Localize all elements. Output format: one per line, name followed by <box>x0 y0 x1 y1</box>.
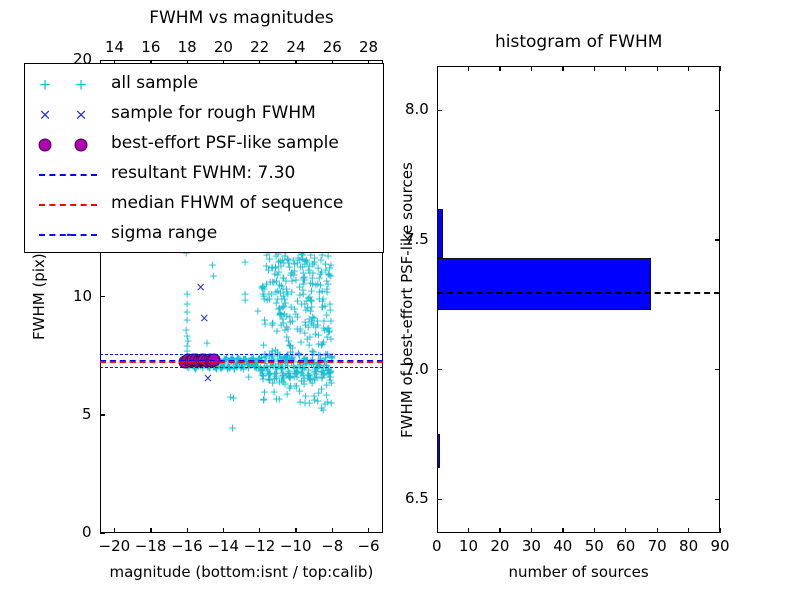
right-xtick-top <box>688 66 689 71</box>
right-xtick <box>531 528 532 533</box>
right-xtick <box>437 528 438 533</box>
right-xtick-label: 80 <box>679 537 698 555</box>
left-xtick-bottom-label: −20 <box>99 537 131 555</box>
legend-item-label: all sample <box>111 73 198 93</box>
plus-marker: + <box>75 78 88 93</box>
left-xtick-top-label: 14 <box>105 38 124 56</box>
legend-item: ××sample for rough FWHM <box>25 100 383 130</box>
right-xtick <box>499 528 500 533</box>
cross-marker: × <box>75 108 88 123</box>
right-ytick <box>437 499 442 500</box>
right-ytick-right <box>715 369 720 370</box>
legend-item: best-effort PSF-like sample <box>25 130 383 160</box>
reference-line-sigma-range-upper <box>100 354 383 355</box>
legend-item-label: resultant FWHM: 7.30 <box>111 163 295 183</box>
right-xaxis-label: number of sources <box>509 563 649 581</box>
legend-item: resultant FWHM: 7.30 <box>25 160 383 190</box>
right-xtick-label: 50 <box>585 537 604 555</box>
cross-marker: × <box>39 108 52 123</box>
dashed-line-swatch <box>39 174 97 176</box>
right-xtick-label: 0 <box>432 537 442 555</box>
left-xtick-bottom-label: −12 <box>244 537 276 555</box>
right-xtick-top <box>531 66 532 71</box>
right-xtick-top <box>499 66 500 71</box>
left-xtick-top-label: 20 <box>214 38 233 56</box>
left-xtick-bottom-label: −16 <box>171 537 203 555</box>
left-ytick-label: 5 <box>82 405 92 423</box>
right-ytick-right <box>715 499 720 500</box>
left-xtick-top-label: 22 <box>250 38 269 56</box>
right-xtick <box>657 528 658 533</box>
left-xtick-bottom-label: −18 <box>135 537 167 555</box>
histogram-bar <box>437 209 443 258</box>
right-xtick-top <box>562 66 563 71</box>
legend-item-label: sigma range <box>111 223 217 243</box>
left-xtick-top-label: 16 <box>141 38 160 56</box>
circle-marker <box>75 139 88 152</box>
left-xtick-bottom <box>150 528 151 533</box>
legend-item-label: sample for rough FWHM <box>111 103 316 123</box>
plus-marker: + <box>39 78 52 93</box>
histogram-bar <box>437 258 651 310</box>
right-xtick-label: 90 <box>711 537 730 555</box>
right-xtick-top <box>437 66 438 71</box>
right-ytick-right <box>715 239 720 240</box>
right-xtick-label: 30 <box>522 537 541 555</box>
legend-item: median FHWM of sequence <box>25 190 383 220</box>
right-xtick <box>720 528 721 533</box>
left-ytick <box>100 60 105 61</box>
left-xtick-bottom-label: −8 <box>321 537 343 555</box>
right-xtick <box>625 528 626 533</box>
right-xtick-label: 60 <box>616 537 635 555</box>
left-ytick <box>100 533 105 534</box>
left-ytick <box>100 414 105 415</box>
left-ytick <box>100 296 105 297</box>
reference-line-sigma-range-lower <box>100 367 383 368</box>
dashed-line-swatch <box>39 204 97 206</box>
right-yaxis-label: FWHM of best-effort PSF-like sources <box>398 162 416 438</box>
left-xtick-bottom <box>114 528 115 533</box>
right-xtick-label: 20 <box>490 537 509 555</box>
right-xtick <box>562 528 563 533</box>
left-xtick-bottom-label: −6 <box>357 537 379 555</box>
legend-item: sigma range <box>25 220 383 250</box>
left-xtick-top-label: 26 <box>323 38 342 56</box>
left-xtick-bottom <box>295 528 296 533</box>
left-xtick-bottom <box>368 528 369 533</box>
right-ytick-right <box>715 110 720 111</box>
left-xtick-bottom-label: −10 <box>280 537 312 555</box>
right-xtick-label: 10 <box>459 537 478 555</box>
figure-canvas: FWHM vs magnitudes−20−18−16−14−12−10−8−6… <box>0 0 800 600</box>
legend-item-label: best-effort PSF-like sample <box>111 133 339 153</box>
right-xtick-label: 70 <box>648 537 667 555</box>
left-xtick-top-label: 28 <box>359 38 378 56</box>
right-ytick <box>437 110 442 111</box>
right-plot-title: histogram of FWHM <box>495 32 662 52</box>
left-xtick-bottom <box>332 528 333 533</box>
right-xtick <box>468 528 469 533</box>
right-xtick <box>688 528 689 533</box>
right-ytick <box>437 369 442 370</box>
right-xtick-top <box>657 66 658 71</box>
right-ytick-label: 8.0 <box>405 100 429 118</box>
right-xtick-label: 40 <box>553 537 572 555</box>
right-xtick <box>594 528 595 533</box>
left-xtick-bottom <box>223 528 224 533</box>
plot-legend: ++all sample××sample for rough FWHMbest-… <box>24 63 384 253</box>
dashdot-dot <box>67 234 70 236</box>
circle-marker <box>39 139 52 152</box>
reference-line-median-fhwm-of-sequence <box>100 361 383 363</box>
left-yaxis-label: FWHM (pix) <box>30 253 48 340</box>
histogram-bar <box>437 434 440 468</box>
legend-item-label: median FHWM of sequence <box>111 193 343 213</box>
right-xtick-top <box>594 66 595 71</box>
left-ytick-label: 0 <box>82 523 92 541</box>
right-xtick-top <box>720 66 721 71</box>
left-xaxis-label: magnitude (bottom:isnt / top:calib) <box>110 563 374 581</box>
histogram-reference-line <box>437 292 720 294</box>
legend-item: ++all sample <box>25 70 383 100</box>
left-ytick-label: 10 <box>73 287 92 305</box>
left-xtick-bottom-label: −14 <box>207 537 239 555</box>
left-xtick-bottom <box>187 528 188 533</box>
left-plot-title: FWHM vs magnitudes <box>0 8 483 28</box>
right-ytick-label: 6.5 <box>405 489 429 507</box>
right-xtick-top <box>625 66 626 71</box>
left-xtick-top-label: 24 <box>286 38 305 56</box>
left-xtick-top-label: 18 <box>178 38 197 56</box>
right-xtick-top <box>468 66 469 71</box>
left-xtick-bottom <box>259 528 260 533</box>
